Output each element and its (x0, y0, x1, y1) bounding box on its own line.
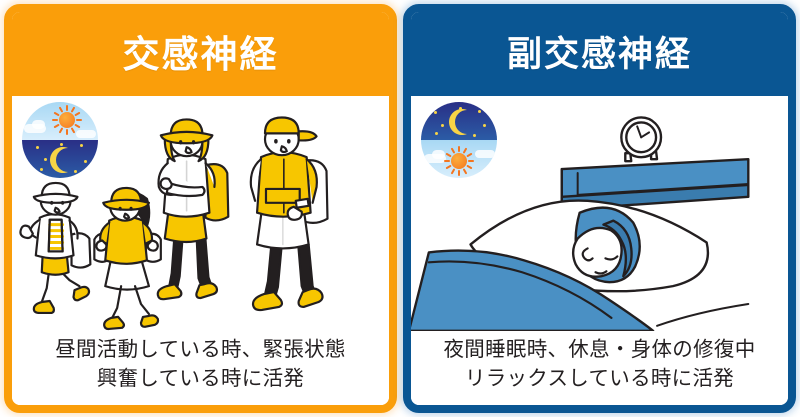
moon-icon (447, 108, 473, 136)
caption-line: 夜間睡眠時、休息・身体の修復中 (417, 335, 782, 364)
comparison-figure: 交感神経 (0, 0, 800, 417)
figure-boy (20, 183, 90, 313)
sun-icon (444, 146, 474, 176)
figure-girl (94, 188, 160, 329)
panel-sympathetic-body (12, 96, 389, 331)
panel-parasympathetic-body (411, 96, 788, 331)
day-over-night-icon (22, 102, 98, 178)
caption-line: 興奮している時に活発 (18, 364, 383, 393)
cloud-icon (32, 120, 45, 129)
moon-icon (48, 146, 74, 174)
caption-line: 昼間活動している時、緊張状態 (18, 335, 383, 364)
night-over-day-icon (421, 102, 497, 178)
panel-sympathetic-caption: 昼間活動している時、緊張状態 興奮している時に活発 (12, 331, 389, 405)
sleeping-woman (573, 208, 640, 283)
figure-woman (158, 119, 229, 299)
panel-sympathetic: 交感神経 (4, 4, 397, 413)
alarm-clock (621, 117, 661, 161)
panel-parasympathetic-title: 副交感神経 (411, 12, 788, 96)
panel-sympathetic-title: 交感神経 (12, 12, 389, 96)
panel-parasympathetic-caption: 夜間睡眠時、休息・身体の修復中 リラックスしている時に活発 (411, 331, 788, 405)
sun-icon (52, 105, 82, 135)
figure-man (251, 117, 328, 310)
panel-parasympathetic: 副交感神経 (403, 4, 796, 413)
caption-line: リラックスしている時に活発 (417, 364, 782, 393)
cloud-icon (475, 150, 495, 158)
